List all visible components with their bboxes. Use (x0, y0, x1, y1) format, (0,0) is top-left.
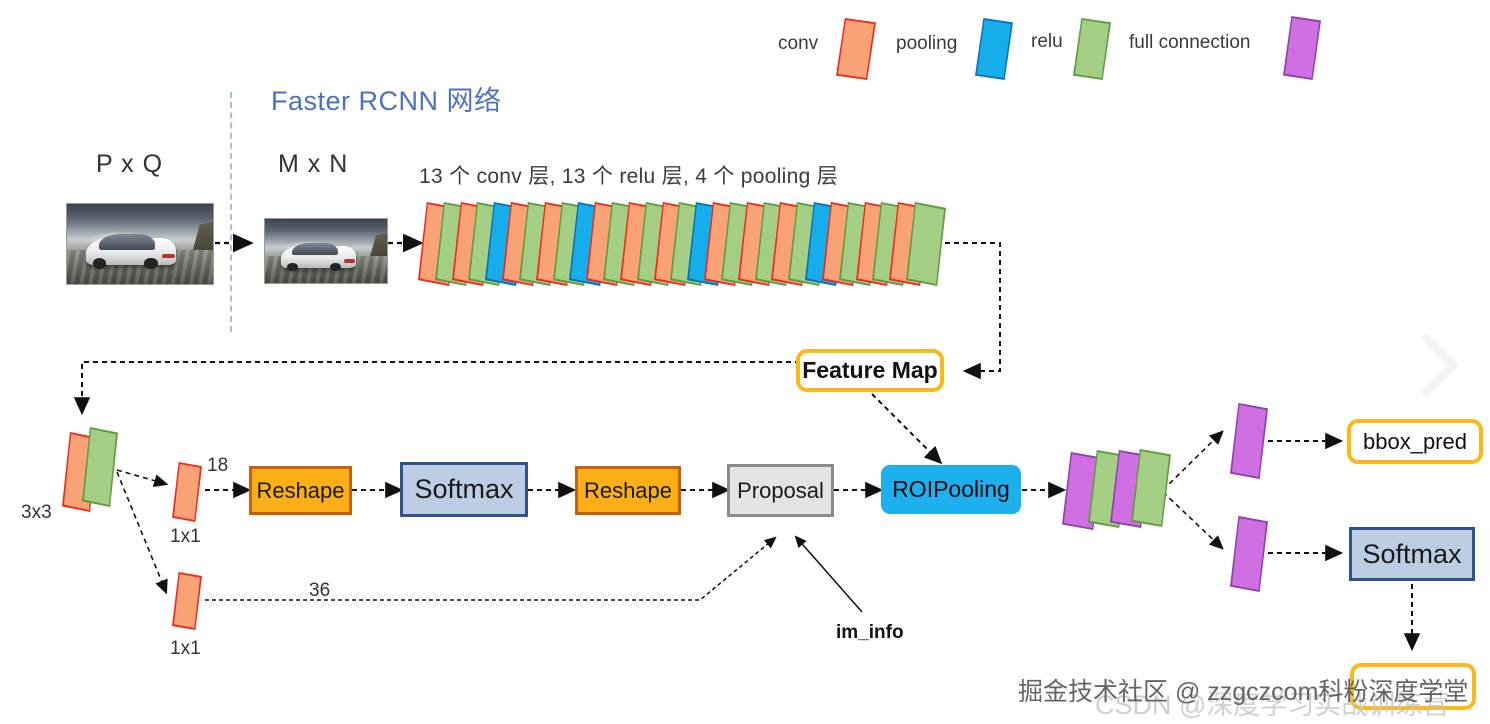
roipooling-box[interactable]: ROIPooling (881, 465, 1021, 514)
resized-dim-label: M x N (278, 152, 348, 177)
proposal-box[interactable]: Proposal (727, 464, 834, 517)
feature-map-box[interactable]: Feature Map (796, 349, 944, 392)
legend-label-relu: relu (1031, 32, 1063, 51)
input-dim-label: P x Q (96, 152, 163, 177)
rpn-reg-channels-label: 36 (309, 581, 330, 600)
input-image-resized (264, 218, 388, 284)
conv-plate-icon (836, 18, 876, 80)
reshape-box-1[interactable]: Reshape (249, 466, 352, 515)
rpn-conv3x3-relu-plate (82, 427, 118, 507)
section-divider (230, 92, 232, 332)
diagram-canvas: conv pooling relu full connection Faster… (0, 0, 1490, 724)
rpn-conv1x1-cls-plate (172, 462, 202, 522)
rpn-cls-channels-label: 18 (207, 456, 228, 475)
rpn-softmax-box[interactable]: Softmax (400, 462, 528, 517)
head-relu-plate-2 (1131, 449, 1171, 527)
bbox-pred-box[interactable]: bbox_pred (1347, 419, 1483, 464)
reshape-box-2[interactable]: Reshape (575, 466, 681, 515)
connector-layer (0, 0, 1490, 724)
legend-label-pooling: pooling (896, 34, 957, 53)
rpn-conv1x1-reg-plate (172, 572, 202, 630)
im-info-label: im_info (836, 623, 904, 642)
watermark-primary: 掘金技术社区 @ zzgczcom科粉深度学堂 (1018, 672, 1468, 708)
pooling-plate-icon (975, 18, 1013, 80)
fc-plate-icon (1283, 16, 1321, 80)
backbone-note: 13 个 conv 层, 13 个 relu 层, 4 个 pooling 层 (419, 166, 838, 187)
head-branch-fc-plate-cls (1230, 516, 1268, 592)
head-branch-fc-plate-bbox (1230, 403, 1268, 479)
rpn-kernel-1x1-reg-label: 1x1 (170, 639, 201, 658)
relu-plate-icon (1073, 18, 1111, 80)
vgg-backbone-stack (418, 198, 948, 290)
legend-label-full-connection: full connection (1129, 33, 1250, 52)
input-image-original (66, 203, 214, 285)
page-title: Faster RCNN 网络 (271, 88, 502, 115)
legend-label-conv: conv (778, 34, 818, 53)
rpn-kernel-3x3-label: 3x3 (21, 503, 52, 522)
backbone-relu-plate (906, 202, 946, 286)
head-softmax-box[interactable]: Softmax (1349, 527, 1475, 581)
rpn-kernel-1x1-cls-label: 1x1 (170, 527, 201, 546)
